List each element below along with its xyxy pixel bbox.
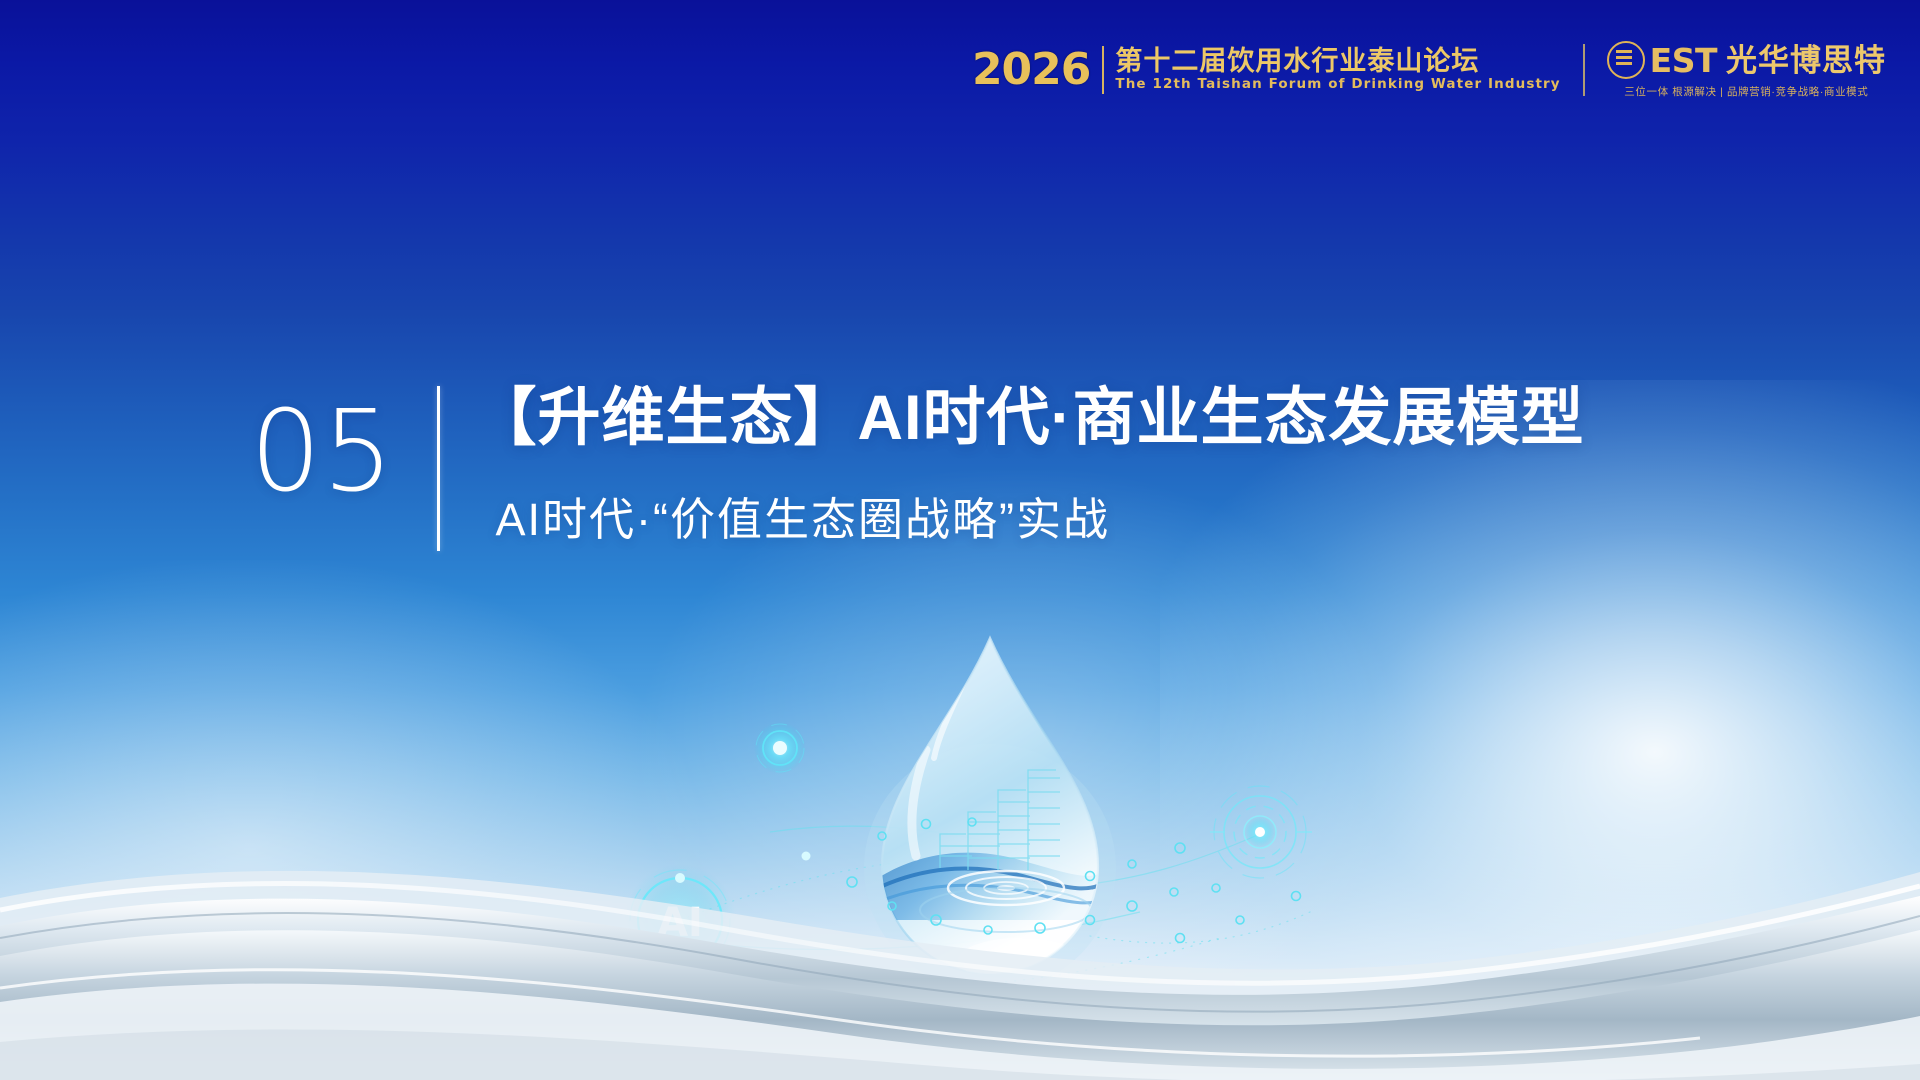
company-logo-word: EST: [1650, 44, 1717, 77]
forum-logo-text: 第十二届饮用水行业泰山论坛 The 12th Taishan Forum of …: [1115, 47, 1560, 94]
ai-badge-label: AI: [657, 900, 703, 946]
company-logo: EST 光华博思特 三位一体 根源解决 | 品牌营销·竞争战略·商业模式: [1607, 41, 1886, 99]
droplet-shape: [878, 638, 1106, 982]
network-arcs: [660, 826, 1310, 988]
section-number: 05: [250, 378, 395, 508]
network-nodes: [732, 818, 1301, 982]
company-tagline: 三位一体 根源解决 | 品牌营销·竞争战略·商业模式: [1624, 84, 1868, 99]
tech-node-icon: [754, 722, 806, 774]
tech-radar-icon: [1210, 786, 1312, 878]
page-title: 【升维生态】AI时代·商业生态发展模型: [474, 378, 1585, 459]
slide-title-block: 05 【升维生态】AI时代·商业生态发展模型 AI时代·“价值生态圈战略”实战: [250, 378, 1585, 551]
forum-logo-separator: [1102, 46, 1104, 94]
header-logo-divider: [1583, 44, 1585, 96]
water-droplet-artwork: AI: [620, 620, 1380, 1040]
company-logo-row: EST 光华博思特: [1607, 41, 1886, 79]
forum-title-en: The 12th Taishan Forum of Drinking Water…: [1115, 75, 1560, 93]
forum-year: 2026: [972, 48, 1102, 92]
title-divider-rule: [437, 386, 440, 551]
droplet-water-ripples: [878, 682, 1106, 982]
presentation-slide: 2026 第十二届饮用水行业泰山论坛 The 12th Taishan Foru…: [0, 0, 1920, 1080]
forum-title-cn: 第十二届饮用水行业泰山论坛: [1115, 47, 1560, 75]
background-glow-left: [0, 560, 700, 1040]
company-name-cn: 光华博思特: [1726, 45, 1886, 76]
ascending-bar-chart-icon: [940, 770, 1060, 870]
header-logos: 2026 第十二届饮用水行业泰山论坛 The 12th Taishan Foru…: [972, 34, 1886, 106]
title-text-group: 【升维生态】AI时代·商业生态发展模型 AI时代·“价值生态圈战略”实战: [474, 378, 1585, 548]
page-subtitle: AI时代·“价值生态圈战略”实战: [496, 483, 1585, 548]
forum-logo: 2026 第十二届饮用水行业泰山论坛 The 12th Taishan Foru…: [972, 34, 1561, 106]
silver-water-wave: [0, 750, 1920, 1080]
best-circle-mark-icon: [1607, 41, 1645, 79]
ai-badge: AI: [624, 864, 736, 976]
